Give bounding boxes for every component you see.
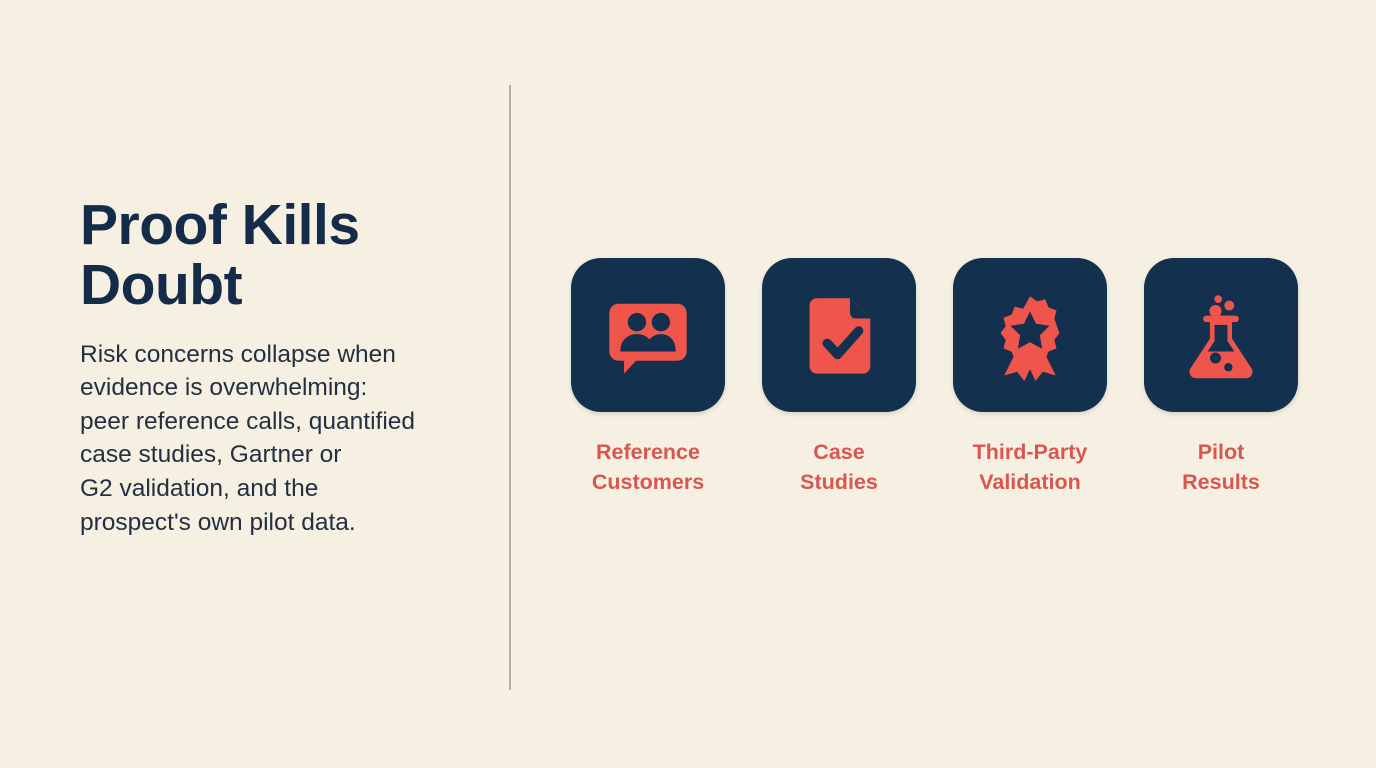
speech-bubble-people-icon	[602, 289, 694, 381]
body-paragraph: Risk concerns collapse when evidence is …	[80, 338, 480, 539]
icon-tile[interactable]	[1144, 258, 1298, 412]
icon-tile[interactable]	[571, 258, 725, 412]
left-text-column: Proof Kills Doubt Risk concerns collapse…	[80, 196, 480, 539]
slide-canvas: Proof Kills Doubt Risk concerns collapse…	[0, 0, 1376, 768]
proof-item-label: Reference Customers	[592, 438, 704, 497]
proof-item-case-studies[interactable]: Case Studies	[762, 258, 916, 497]
proof-item-reference-customers[interactable]: Reference Customers	[571, 258, 725, 497]
proof-icon-grid: Reference Customers Case Studies	[571, 258, 1298, 497]
lab-flask-icon	[1175, 289, 1267, 381]
proof-item-label: Third-Party Validation	[973, 438, 1088, 497]
proof-item-third-party-validation[interactable]: Third-Party Validation	[953, 258, 1107, 497]
proof-item-label: Case Studies	[800, 438, 878, 497]
award-rosette-icon	[984, 289, 1076, 381]
icon-tile[interactable]	[953, 258, 1107, 412]
vertical-divider	[509, 85, 511, 690]
proof-item-label: Pilot Results	[1182, 438, 1260, 497]
icon-tile[interactable]	[762, 258, 916, 412]
page-title: Proof Kills Doubt	[80, 196, 480, 316]
proof-item-pilot-results[interactable]: Pilot Results	[1144, 258, 1298, 497]
document-check-icon	[793, 289, 885, 381]
